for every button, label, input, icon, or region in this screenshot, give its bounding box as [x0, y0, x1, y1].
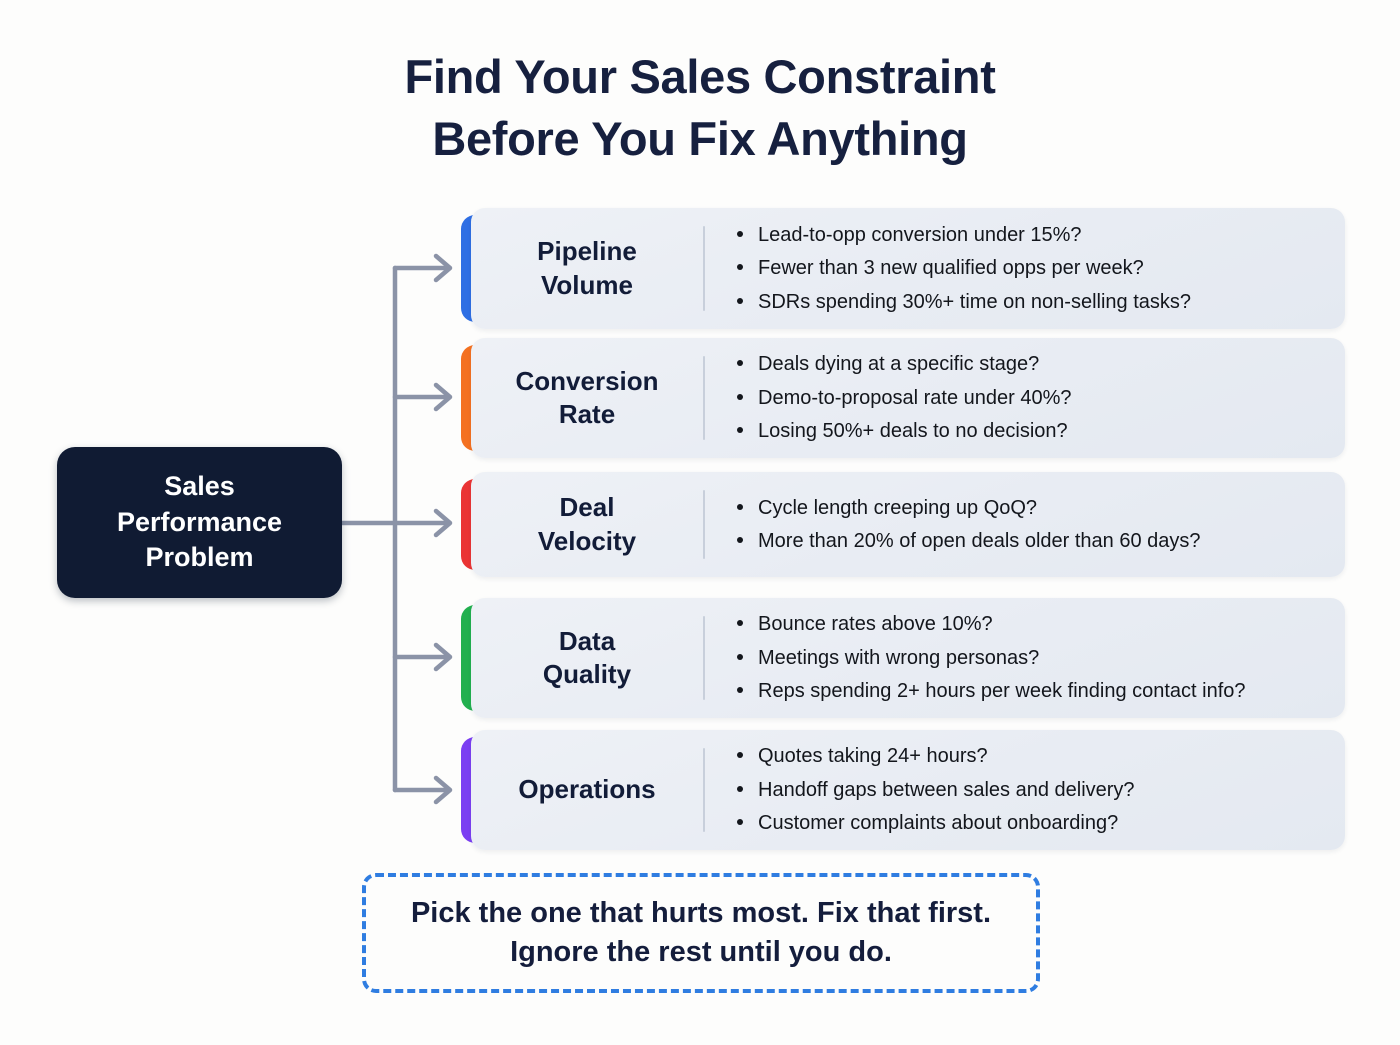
- branch-bullets-deal-velocity: Cycle length creeping up QoQ? More than …: [705, 472, 1345, 577]
- bullet-dot-icon: [737, 298, 743, 304]
- arrowhead-icon-2: [436, 385, 450, 409]
- list-item: Lead-to-opp conversion under 15%?: [733, 221, 1325, 249]
- arrowhead-icon-3: [436, 511, 450, 535]
- branch-bullets-conversion-rate: Deals dying at a specific stage? Demo-to…: [705, 338, 1345, 458]
- bullet-dot-icon: [737, 394, 743, 400]
- branch-bullets-data-quality: Bounce rates above 10%? Meetings with wr…: [705, 598, 1345, 718]
- list-item: Losing 50%+ deals to no decision?: [733, 417, 1325, 445]
- list-item: Demo-to-proposal rate under 40%?: [733, 384, 1325, 412]
- bullet-dot-icon: [737, 752, 743, 758]
- page-title-line-1: Find Your Sales Constraint: [0, 46, 1400, 108]
- branch-card-operations[interactable]: Operations Quotes taking 24+ hours? Hand…: [471, 730, 1345, 850]
- root-node-line-2: Performance: [117, 505, 282, 541]
- branch-card-conversion-rate[interactable]: Conversion Rate Deals dying at a specifi…: [471, 338, 1345, 458]
- branch-bullets-operations: Quotes taking 24+ hours? Handoff gaps be…: [705, 730, 1345, 850]
- bullet-dot-icon: [737, 360, 743, 366]
- list-item: Bounce rates above 10%?: [733, 610, 1325, 638]
- list-item: Fewer than 3 new qualified opps per week…: [733, 254, 1325, 282]
- bullet-dot-icon: [737, 427, 743, 433]
- bullet-dot-icon: [737, 819, 743, 825]
- branch-label-deal-velocity: Deal Velocity: [471, 472, 703, 577]
- page-title: Find Your Sales Constraint Before You Fi…: [0, 46, 1400, 170]
- bullet-dot-icon: [737, 231, 743, 237]
- arrowhead-icon-1: [436, 256, 450, 280]
- branch-bullets-pipeline-volume: Lead-to-opp conversion under 15%? Fewer …: [705, 208, 1345, 329]
- list-item: SDRs spending 30%+ time on non-selling t…: [733, 288, 1325, 316]
- branch-card-pipeline-volume[interactable]: Pipeline Volume Lead-to-opp conversion u…: [471, 208, 1345, 329]
- branch-card-deal-velocity[interactable]: Deal Velocity Cycle length creeping up Q…: [471, 472, 1345, 577]
- bullet-dot-icon: [737, 687, 743, 693]
- branch-label-pipeline-volume: Pipeline Volume: [471, 208, 703, 329]
- bullet-dot-icon: [737, 504, 743, 510]
- list-item: Quotes taking 24+ hours?: [733, 742, 1325, 770]
- bullet-dot-icon: [737, 654, 743, 660]
- list-item: Reps spending 2+ hours per week finding …: [733, 677, 1325, 705]
- bullet-dot-icon: [737, 264, 743, 270]
- root-node-line-3: Problem: [117, 540, 282, 576]
- footer-callout: Pick the one that hurts most. Fix that f…: [362, 873, 1040, 993]
- branch-row-deal-velocity[interactable]: Deal Velocity Cycle length creeping up Q…: [461, 472, 1345, 577]
- branch-label-data-quality: Data Quality: [471, 598, 703, 718]
- list-item: Cycle length creeping up QoQ?: [733, 494, 1325, 522]
- list-item: Handoff gaps between sales and delivery?: [733, 776, 1325, 804]
- branch-label-conversion-rate: Conversion Rate: [471, 338, 703, 458]
- branch-row-data-quality[interactable]: Data Quality Bounce rates above 10%? Mee…: [461, 598, 1345, 718]
- branch-card-data-quality[interactable]: Data Quality Bounce rates above 10%? Mee…: [471, 598, 1345, 718]
- list-item: More than 20% of open deals older than 6…: [733, 527, 1325, 555]
- bullet-dot-icon: [737, 620, 743, 626]
- page-title-line-2: Before You Fix Anything: [0, 108, 1400, 170]
- footer-callout-line-1: Pick the one that hurts most. Fix that f…: [411, 894, 991, 933]
- branch-row-conversion-rate[interactable]: Conversion Rate Deals dying at a specifi…: [461, 338, 1345, 458]
- bullet-dot-icon: [737, 786, 743, 792]
- arrowhead-icon-4: [436, 645, 450, 669]
- branch-label-operations: Operations: [471, 730, 703, 850]
- list-item: Meetings with wrong personas?: [733, 644, 1325, 672]
- list-item: Deals dying at a specific stage?: [733, 350, 1325, 378]
- branch-row-pipeline-volume[interactable]: Pipeline Volume Lead-to-opp conversion u…: [461, 208, 1345, 329]
- footer-callout-line-2: Ignore the rest until you do.: [411, 933, 991, 972]
- bullet-dot-icon: [737, 537, 743, 543]
- arrowhead-icon-5: [436, 778, 450, 802]
- list-item: Customer complaints about onboarding?: [733, 809, 1325, 837]
- root-node-sales-performance-problem[interactable]: Sales Performance Problem: [57, 447, 342, 598]
- branch-row-operations[interactable]: Operations Quotes taking 24+ hours? Hand…: [461, 730, 1345, 850]
- root-node-line-1: Sales: [117, 469, 282, 505]
